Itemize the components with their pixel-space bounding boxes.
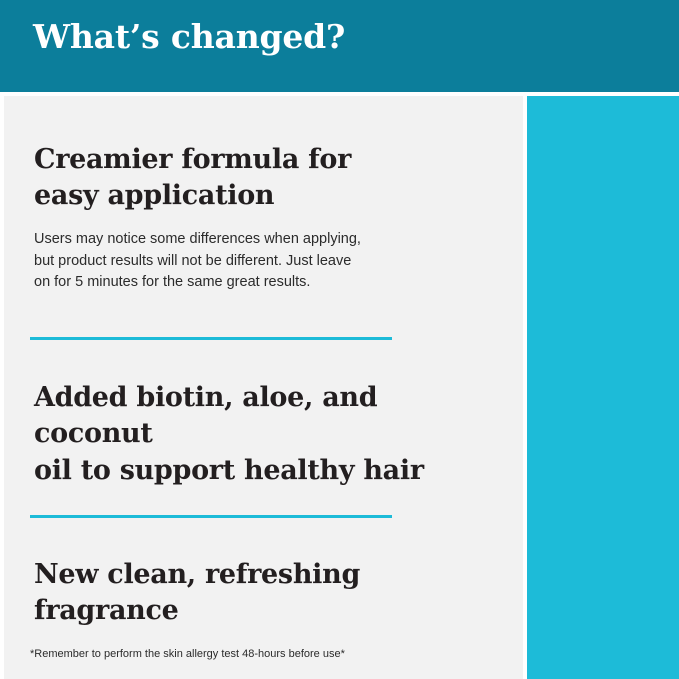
footnote-text: *Remember to perform the skin allergy te… (30, 647, 345, 661)
section-divider (30, 515, 392, 518)
section-divider (30, 337, 392, 340)
right-accent-band (527, 0, 679, 679)
page-title: What’s changed? (33, 19, 345, 55)
section-body: Users may notice some differences when a… (34, 229, 495, 294)
section-heading: New clean, refreshing fragrance (34, 557, 495, 630)
band-gutter (523, 0, 527, 679)
section-new-fragrance: New clean, refreshing fragrance (34, 557, 495, 630)
section-creamier-formula: Creamier formula for easy application Us… (34, 142, 495, 294)
header-bar: What’s changed? (0, 0, 679, 92)
section-added-biotin: Added biotin, aloe, and coconut oil to s… (34, 380, 495, 489)
section-heading: Creamier formula for easy application (34, 142, 495, 215)
content-panel: Creamier formula for easy application Us… (4, 96, 523, 679)
section-heading: Added biotin, aloe, and coconut oil to s… (34, 380, 495, 489)
poster: What’s changed? Creamier formula for eas… (0, 0, 679, 679)
